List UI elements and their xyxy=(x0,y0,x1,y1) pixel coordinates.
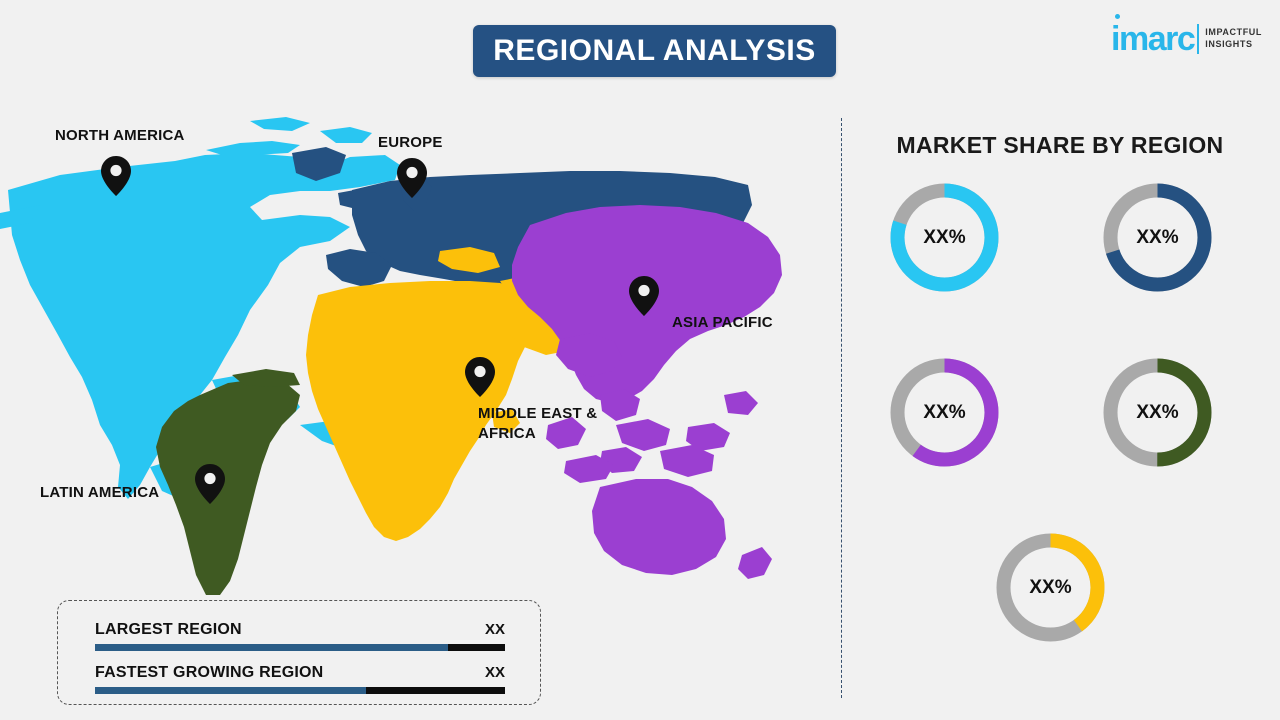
donut-value-label: XX% xyxy=(882,175,1007,300)
legend-value-largest-region: XX xyxy=(485,621,505,638)
logo-divider xyxy=(1197,24,1199,54)
donut-value-label: XX% xyxy=(1095,350,1220,475)
legend-label-largest-region: LARGEST REGION xyxy=(95,621,242,639)
map-region-asia-pacific[interactable] xyxy=(512,205,782,579)
donut-value-label: XX% xyxy=(988,525,1113,650)
logo-tagline-line1: IMPACTFUL xyxy=(1205,26,1262,38)
donut-north-america[interactable]: XX% xyxy=(882,175,1007,300)
map-label-asia-pacific: ASIA PACIFIC xyxy=(672,313,773,333)
market-share-donut-grid: XX% XX% XX% XX% XX% xyxy=(855,175,1265,675)
logo-dot-icon xyxy=(1115,14,1120,19)
world-map-panel: NORTH AMERICA EUROPE ASIA PACIFIC MIDDLE… xyxy=(0,95,830,595)
map-pin-latin-america-icon[interactable] xyxy=(195,464,225,504)
page-title-banner: REGIONAL ANALYSIS xyxy=(473,25,836,77)
map-label-europe: EUROPE xyxy=(378,133,443,153)
imarc-logo: imarc IMPACTFUL INSIGHTS xyxy=(1111,22,1262,56)
page-title: REGIONAL ANALYSIS xyxy=(493,34,815,68)
donut-latin-america[interactable]: XX% xyxy=(1095,350,1220,475)
map-label-middle-east-africa: MIDDLE EAST & AFRICA xyxy=(478,404,597,444)
donut-europe[interactable]: XX% xyxy=(1095,175,1220,300)
map-label-north-america: NORTH AMERICA xyxy=(55,126,185,146)
panel-divider xyxy=(841,118,842,698)
map-pin-asia-pacific-icon[interactable] xyxy=(629,276,659,316)
legend-bar-fill-largest-region xyxy=(95,644,448,651)
map-pin-europe-icon[interactable] xyxy=(397,158,427,198)
region-summary-box: LARGEST REGION XX FASTEST GROWING REGION… xyxy=(57,600,541,705)
logo-tagline-line2: INSIGHTS xyxy=(1205,38,1262,50)
logo-wordmark: imarc xyxy=(1111,22,1194,56)
legend-value-fastest-growing-region: XX xyxy=(485,664,505,681)
map-pin-middle-east-africa-icon[interactable] xyxy=(465,357,495,397)
map-label-latin-america: LATIN AMERICA xyxy=(40,483,159,503)
legend-row-largest-region: LARGEST REGION XX xyxy=(95,621,505,651)
legend-bar-largest-region xyxy=(95,644,505,651)
donut-value-label: XX% xyxy=(882,350,1007,475)
legend-bar-fill-fastest-growing-region xyxy=(95,687,366,694)
donut-value-label: XX% xyxy=(1095,175,1220,300)
donut-asia-pacific[interactable]: XX% xyxy=(882,350,1007,475)
legend-bar-fastest-growing-region xyxy=(95,687,505,694)
legend-label-fastest-growing-region: FASTEST GROWING REGION xyxy=(95,664,323,682)
logo-tagline: IMPACTFUL INSIGHTS xyxy=(1205,26,1262,50)
donut-middle-east-africa[interactable]: XX% xyxy=(988,525,1113,650)
map-pin-north-america-icon[interactable] xyxy=(101,156,131,196)
logo-word-text: imarc xyxy=(1111,20,1194,58)
regional-analysis-infographic: REGIONAL ANALYSIS imarc IMPACTFUL INSIGH… xyxy=(0,0,1280,720)
legend-row-fastest-growing-region: FASTEST GROWING REGION XX xyxy=(95,664,505,694)
market-share-title: MARKET SHARE BY REGION xyxy=(860,132,1260,159)
